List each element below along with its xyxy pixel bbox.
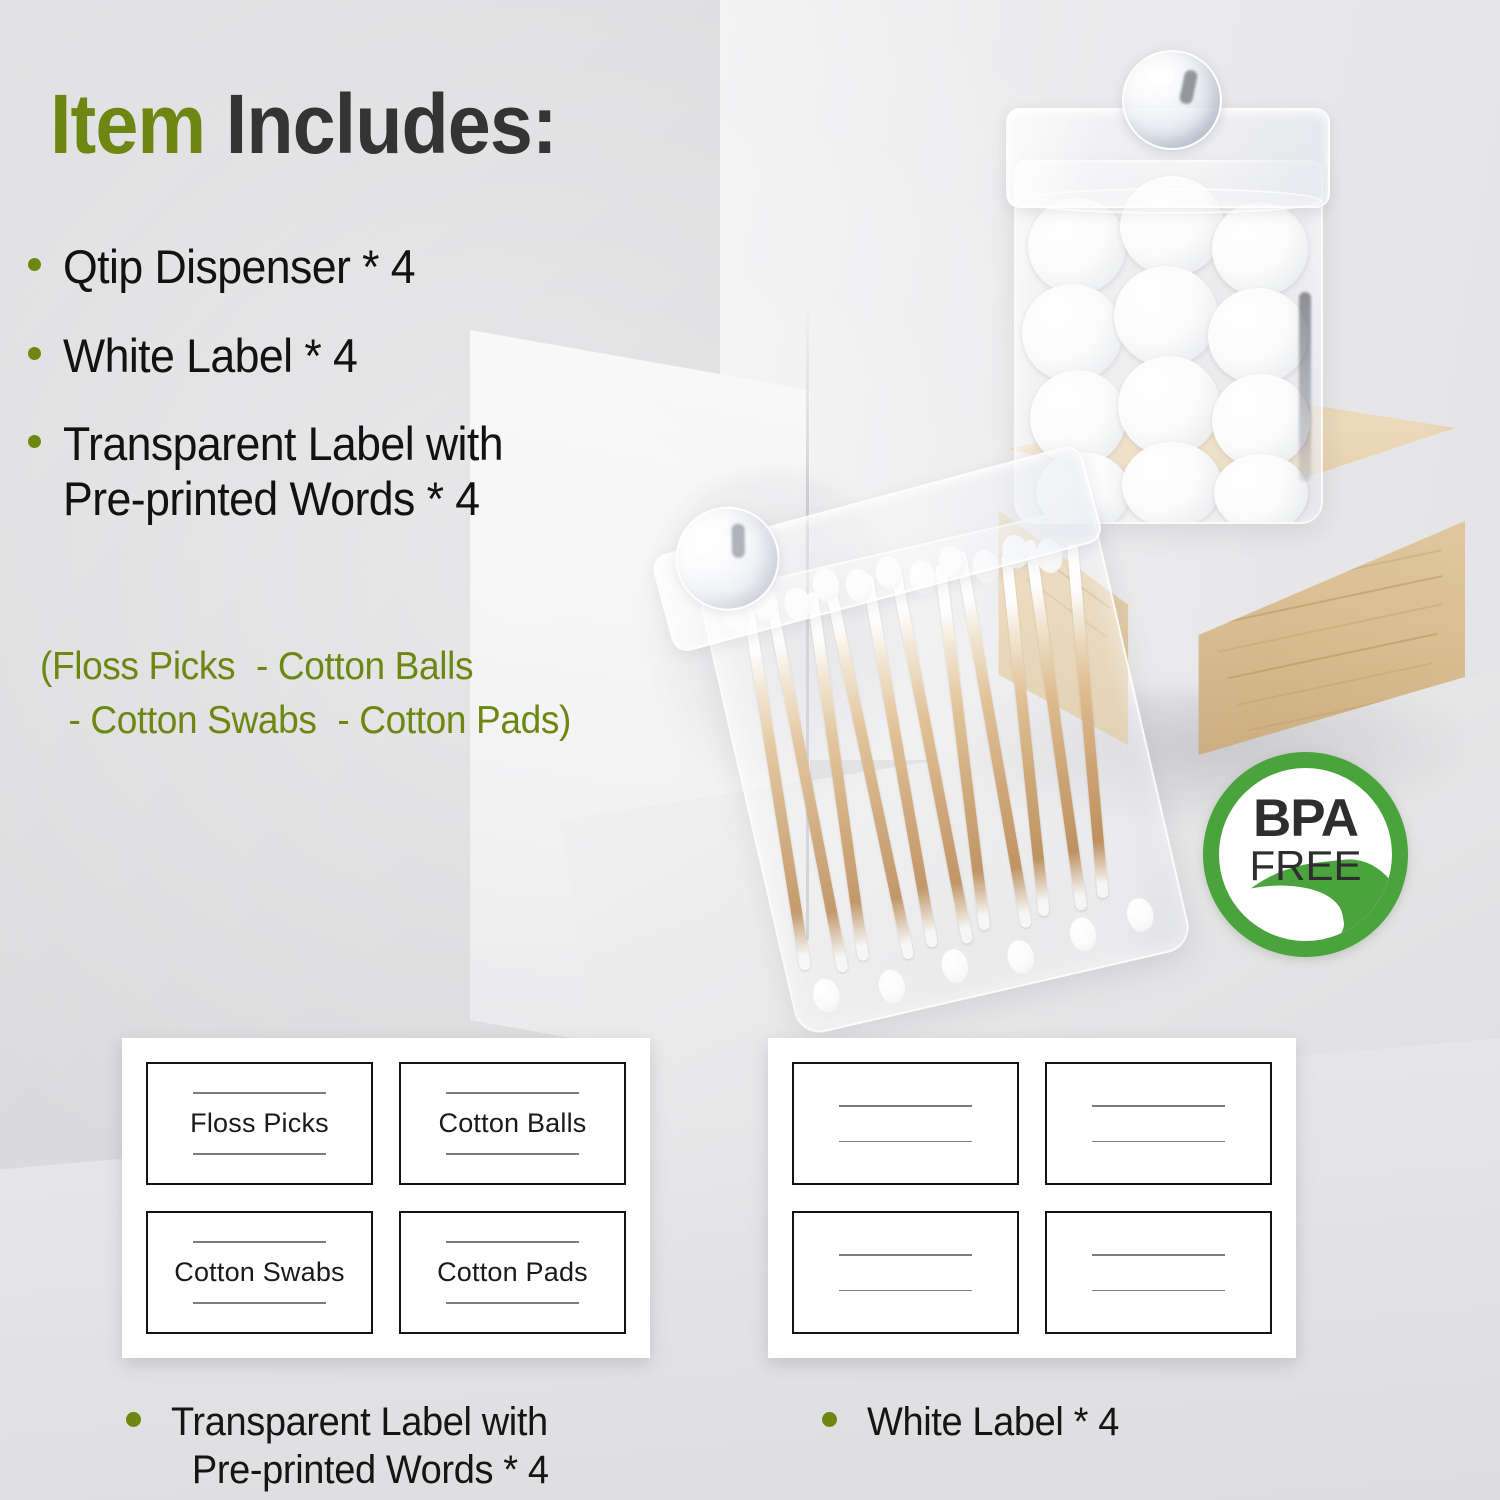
sublist-line-2: - Cotton Swabs- Cotton Pads) <box>40 694 629 748</box>
label-card-text: Cotton Balls <box>439 1108 587 1139</box>
label-cell: Cotton Pads <box>391 1203 634 1342</box>
bullet-dot-icon <box>822 1412 837 1427</box>
sublist-close-paren: ) <box>559 699 571 742</box>
label-card-text: Cotton Pads <box>437 1257 588 1288</box>
label-rule-bottom <box>446 1302 580 1304</box>
label-card-blank <box>792 1211 1019 1334</box>
caption-line-2: Pre-printed Words * 4 <box>171 1446 549 1494</box>
label-rule-top <box>446 1241 580 1243</box>
label-card: Cotton Balls <box>399 1062 626 1185</box>
label-rule-bottom <box>1092 1141 1226 1143</box>
badge-text: BPA FREE <box>1219 794 1392 887</box>
label-cell: Cotton Balls <box>391 1054 634 1193</box>
label-card-blank <box>1045 1062 1272 1185</box>
bullet-dot-icon <box>28 435 41 448</box>
sublist-item-floss-picks: Floss Picks <box>52 645 235 688</box>
label-card: Cotton Pads <box>399 1211 626 1334</box>
label-cell: Floss Picks <box>138 1054 381 1193</box>
list-item: Qtip Dispenser * 4 <box>22 240 712 295</box>
caption-transparent-label: Transparent Label with Pre-printed Words… <box>126 1398 568 1494</box>
label-rule-bottom <box>446 1153 580 1155</box>
label-cell <box>1037 1203 1280 1342</box>
label-rule-top <box>839 1105 973 1107</box>
label-rule-top <box>446 1092 580 1094</box>
bullet-dot-icon <box>28 347 41 360</box>
list-item: Transparent Label with Pre-printed Words… <box>22 417 712 526</box>
label-cell <box>784 1203 1027 1342</box>
label-rule-top <box>1092 1105 1226 1107</box>
label-rule-bottom <box>193 1302 327 1304</box>
preprinted-words-sublist: (Floss Picks- Cotton Balls - Cotton Swab… <box>40 640 629 748</box>
list-item-line-2: Pre-printed Words * 4 <box>63 472 503 527</box>
sublist-item-cotton-balls: - Cotton Balls <box>256 645 473 688</box>
label-rule-top <box>1092 1254 1226 1256</box>
infographic-canvas: Item Includes: Qtip Dispenser * 4 White … <box>0 0 1500 1500</box>
label-card-blank <box>792 1062 1019 1185</box>
white-label-sheet <box>768 1038 1296 1358</box>
label-rule-top <box>193 1092 327 1094</box>
label-card: Floss Picks <box>146 1062 373 1185</box>
list-item-label-multiline: Transparent Label with Pre-printed Words… <box>63 417 503 526</box>
bpa-free-badge: BPA FREE <box>1203 752 1408 957</box>
label-cell <box>784 1054 1027 1193</box>
label-card-blank <box>1045 1211 1272 1334</box>
list-item: White Label * 4 <box>22 329 712 384</box>
sublist-item-cotton-pads: - Cotton Pads <box>337 699 559 742</box>
transparent-label-sheet: Floss Picks Cotton Balls Cotton Swabs Co… <box>122 1038 650 1358</box>
caption-white-label: White Label * 4 <box>822 1398 1132 1446</box>
bullet-dot-icon <box>126 1412 141 1427</box>
sublist-open-paren: ( <box>40 645 52 688</box>
page-title: Item Includes: <box>50 82 557 166</box>
label-rule-bottom <box>839 1290 973 1292</box>
sublist-item-cotton-swabs: - Cotton Swabs <box>69 699 317 742</box>
caption-line-1: Transparent Label with <box>171 1398 549 1446</box>
list-item-label: Qtip Dispenser * 4 <box>63 240 415 295</box>
label-cell <box>1037 1054 1280 1193</box>
label-card: Cotton Swabs <box>146 1211 373 1334</box>
label-rule-top <box>839 1254 973 1256</box>
label-cell: Cotton Swabs <box>138 1203 381 1342</box>
label-card-text: Cotton Swabs <box>174 1257 345 1288</box>
badge-inner-circle: BPA FREE <box>1219 768 1392 941</box>
title-green-word: Item <box>50 77 205 171</box>
label-card-text: Floss Picks <box>190 1108 329 1139</box>
caption-text: Transparent Label with Pre-printed Words… <box>171 1398 549 1494</box>
item-includes-list: Qtip Dispenser * 4 White Label * 4 Trans… <box>22 240 712 560</box>
title-dark-word: Includes: <box>226 77 557 171</box>
label-rule-bottom <box>193 1153 327 1155</box>
badge-line-2: FREE <box>1219 845 1392 887</box>
label-rule-bottom <box>1092 1290 1226 1292</box>
list-item-line-1: Transparent Label with <box>63 417 503 472</box>
list-item-label: White Label * 4 <box>63 329 357 384</box>
caption-text: White Label * 4 <box>867 1398 1119 1446</box>
sublist-line-1: (Floss Picks- Cotton Balls <box>40 640 629 694</box>
label-rule-top <box>193 1241 327 1243</box>
bullet-dot-icon <box>28 258 41 271</box>
badge-line-1: BPA <box>1219 794 1392 845</box>
label-rule-bottom <box>839 1141 973 1143</box>
